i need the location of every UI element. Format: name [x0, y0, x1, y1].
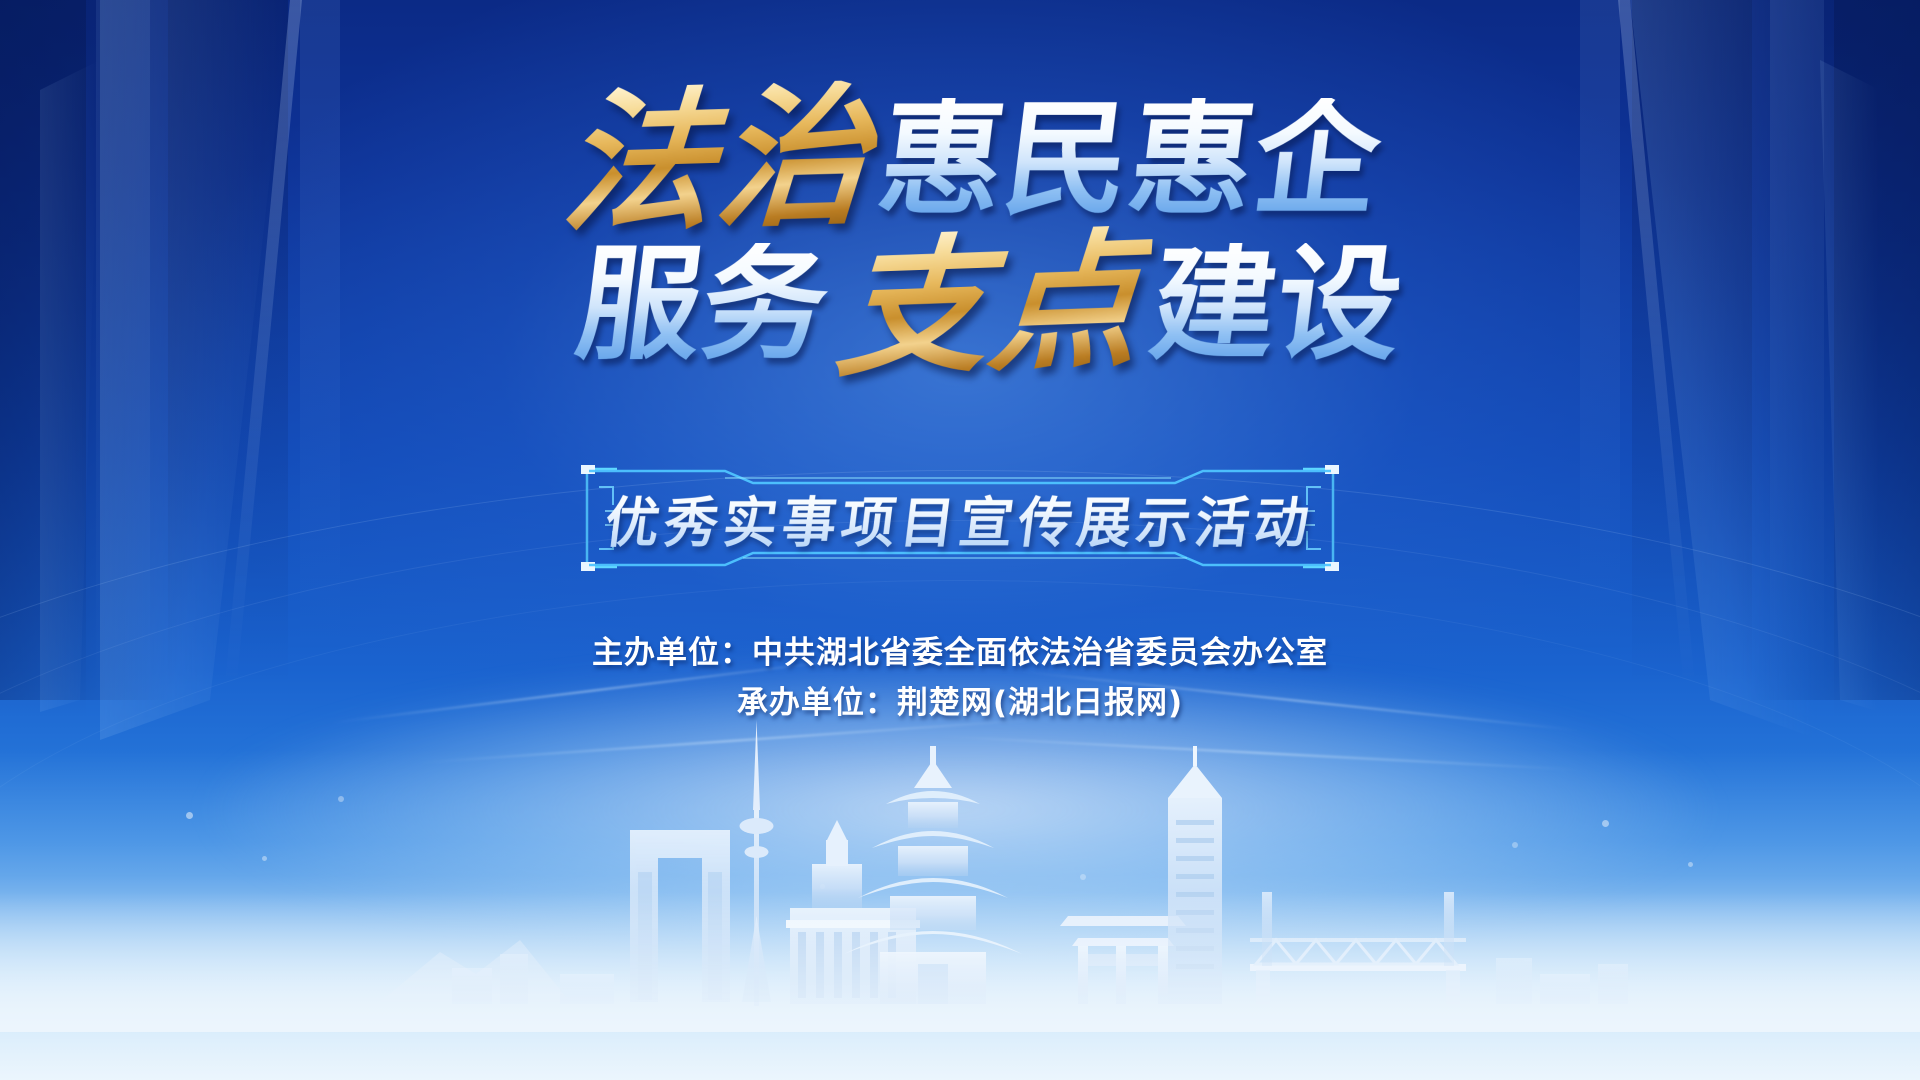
landmark-pagoda-gate	[1060, 916, 1186, 1004]
poster-title: 法治惠民惠企 服务支点建设	[0, 84, 1920, 380]
landmark-yangtze-bridge	[1250, 892, 1466, 1004]
light-ray-4	[940, 735, 1579, 770]
bokeh-particle	[820, 884, 825, 889]
title-line2-gold: 支点	[826, 225, 1154, 386]
title-line1-blue: 惠民惠企	[868, 98, 1391, 222]
bokeh-particle	[1688, 862, 1693, 867]
bokeh-particle	[338, 796, 344, 802]
bokeh-particle	[1080, 874, 1086, 880]
landmark-arch-gate	[630, 830, 730, 1002]
subtitle-banner: 优秀实事项目宣传展示活动	[575, 465, 1345, 571]
title-line-2: 服务支点建设	[60, 230, 1920, 380]
landmark-tv-tower	[740, 720, 774, 1006]
organizer-info: 主办单位：中共湖北省委全面依法治省委员会办公室 承办单位：荆楚网(湖北日报网)	[592, 628, 1328, 728]
bokeh-particle	[262, 856, 267, 861]
title-line2-blue-a: 服务	[566, 243, 839, 367]
landmark-yellow-crane-tower	[844, 746, 1022, 1004]
subtitle-text: 优秀实事项目宣传展示活动	[570, 479, 1350, 558]
bokeh-particle	[1512, 842, 1518, 848]
hill-left	[380, 940, 570, 1002]
title-line2-blue-b: 建设	[1140, 243, 1413, 367]
organizer-line-host: 主办单位：中共湖北省委全面依法治省委员会办公室	[592, 628, 1328, 678]
horizon-arc-2	[0, 520, 1920, 1080]
bokeh-particle	[186, 812, 193, 819]
title-line-1: 法治惠民惠企	[20, 84, 1920, 236]
title-line1-gold: 法治	[551, 80, 881, 241]
landmark-modern-tower	[1168, 746, 1222, 1004]
city-skyline	[0, 702, 1920, 1032]
landmark-clock-building	[786, 820, 920, 1004]
ground-gradient	[0, 750, 1920, 1080]
city-blocks	[452, 954, 1628, 1004]
organizer-line-operator: 承办单位：荆楚网(湖北日报网)	[592, 678, 1328, 728]
poster-canvas: 法治惠民惠企 服务支点建设	[0, 0, 1920, 1080]
bokeh-particle	[1602, 820, 1609, 827]
